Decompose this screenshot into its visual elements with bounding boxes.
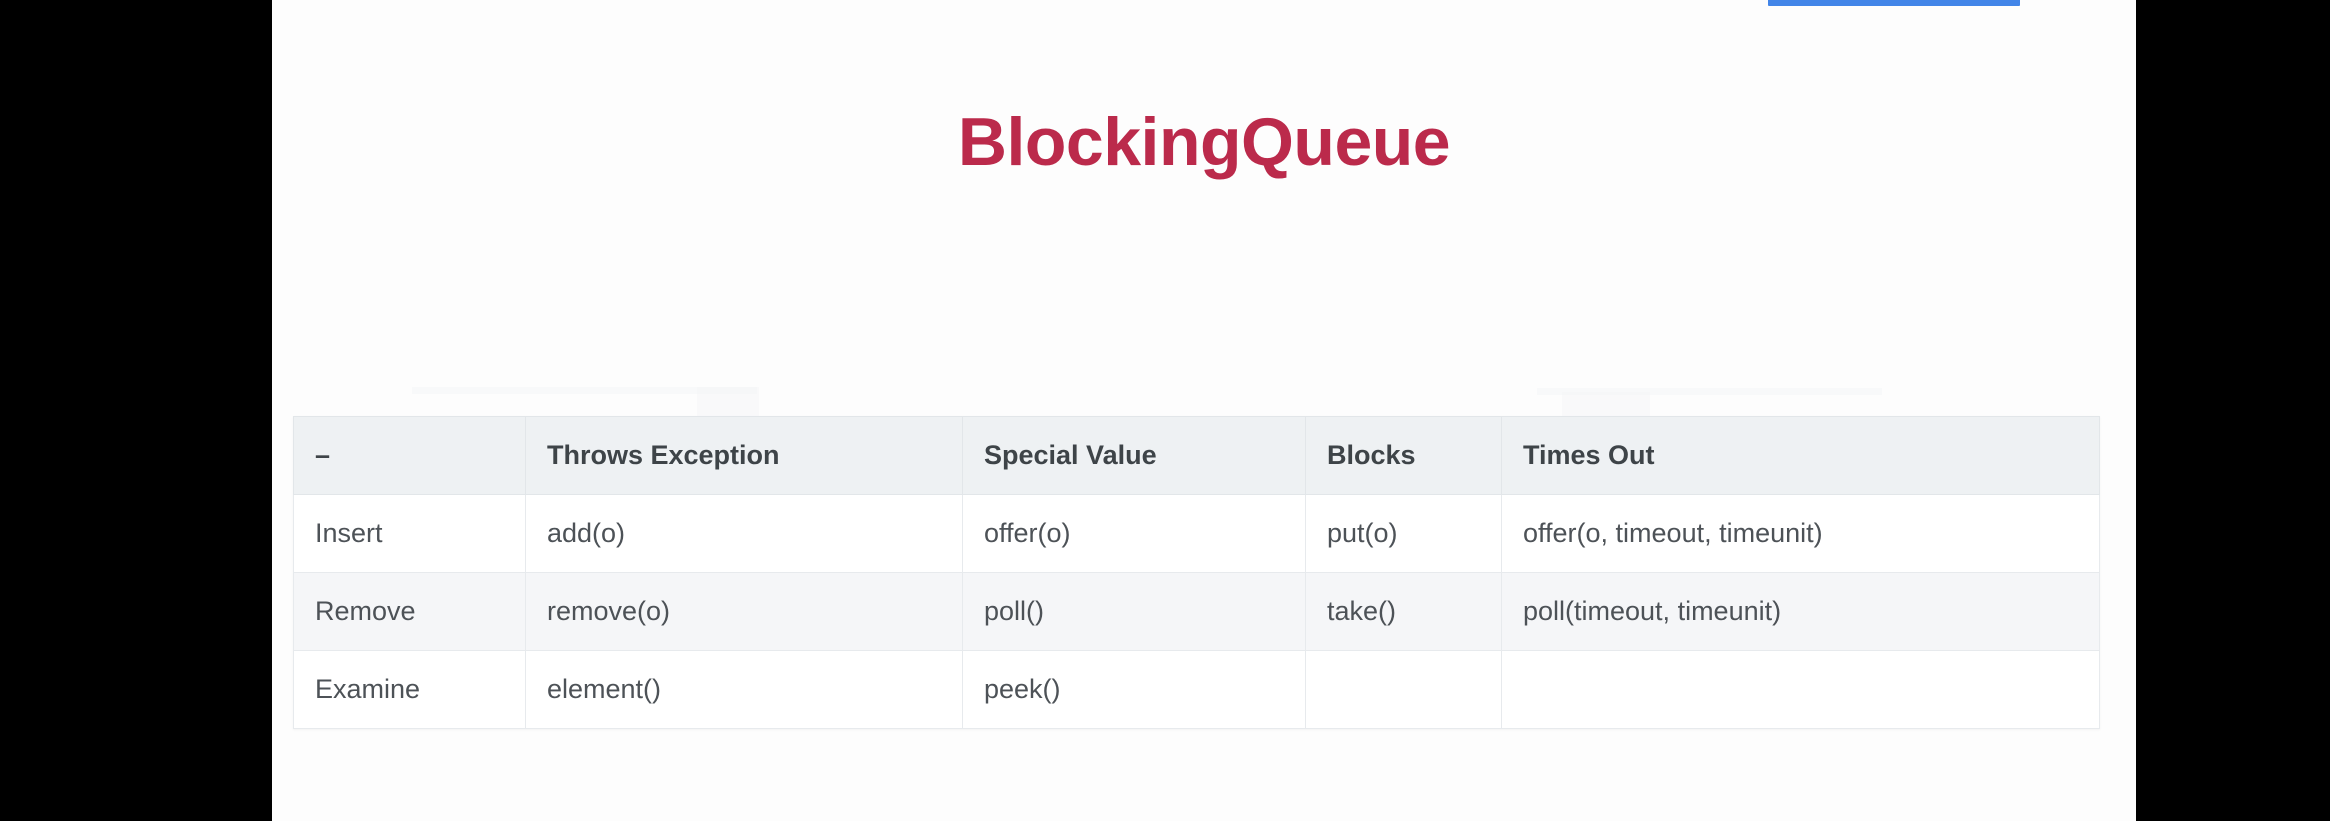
- table-header: – Throws Exception Special Value Blocks …: [294, 417, 2100, 495]
- slide-content: BlockingQueue – Throws Exception Special…: [272, 0, 2136, 821]
- cell-operation: Remove: [294, 573, 526, 651]
- column-header-throws-exception: Throws Exception: [526, 417, 963, 495]
- table-body: Insert add(o) offer(o) put(o) offer(o, t…: [294, 495, 2100, 729]
- table-row: Insert add(o) offer(o) put(o) offer(o, t…: [294, 495, 2100, 573]
- cell-blocks: put(o): [1306, 495, 1502, 573]
- cell-special-value: peek(): [963, 651, 1306, 729]
- cell-operation: Insert: [294, 495, 526, 573]
- cell-blocks: [1306, 651, 1502, 729]
- cell-special-value: offer(o): [963, 495, 1306, 573]
- table-header-row: – Throws Exception Special Value Blocks …: [294, 417, 2100, 495]
- column-header-special-value: Special Value: [963, 417, 1306, 495]
- compression-artifact-left-box: [697, 387, 759, 417]
- cell-times-out: [1502, 651, 2100, 729]
- cell-throws-exception: add(o): [526, 495, 963, 573]
- cell-blocks: take(): [1306, 573, 1502, 651]
- method-table: – Throws Exception Special Value Blocks …: [293, 416, 2100, 729]
- cell-special-value: poll(): [963, 573, 1306, 651]
- cell-times-out: offer(o, timeout, timeunit): [1502, 495, 2100, 573]
- page-title: BlockingQueue: [272, 108, 2136, 176]
- letterbox-left-bar: [0, 0, 272, 821]
- column-header-blocks: Blocks: [1306, 417, 1502, 495]
- table-row: Remove remove(o) poll() take() poll(time…: [294, 573, 2100, 651]
- cell-throws-exception: element(): [526, 651, 963, 729]
- video-frame: BlockingQueue – Throws Exception Special…: [0, 0, 2330, 821]
- blocking-queue-method-table: – Throws Exception Special Value Blocks …: [293, 416, 2099, 729]
- cell-times-out: poll(timeout, timeunit): [1502, 573, 2100, 651]
- cell-operation: Examine: [294, 651, 526, 729]
- table-row: Examine element() peek(): [294, 651, 2100, 729]
- top-accent-bar: [1768, 0, 2020, 6]
- column-header-operation: –: [294, 417, 526, 495]
- letterbox-right-bar: [2136, 0, 2330, 821]
- cell-throws-exception: remove(o): [526, 573, 963, 651]
- column-header-times-out: Times Out: [1502, 417, 2100, 495]
